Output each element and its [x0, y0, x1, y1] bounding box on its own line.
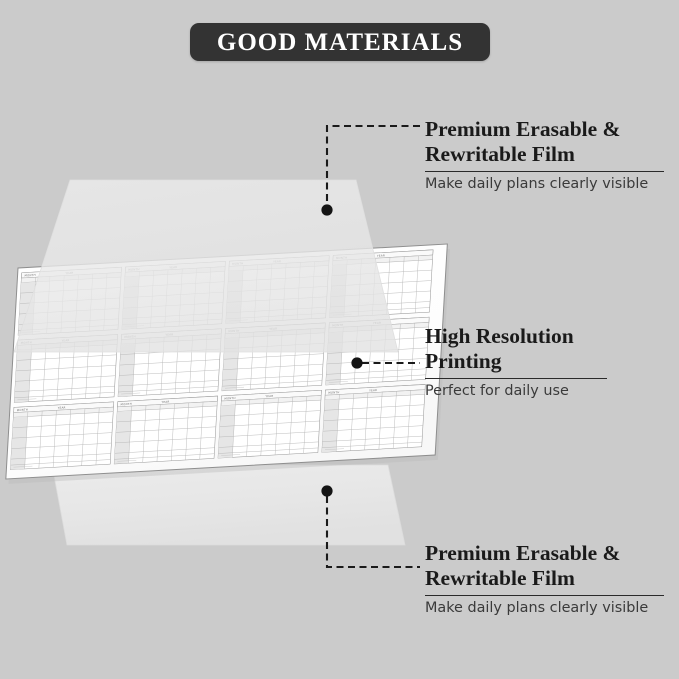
callout-top-divider	[425, 171, 664, 172]
infographic-stage: MONTH YEAR	[0, 0, 679, 679]
leader-dot-top	[321, 204, 332, 215]
top-film-sheet	[14, 180, 398, 352]
callout-bottom-headline: Premium Erasable & Rewritable Film	[425, 541, 671, 592]
page-title: GOOD MATERIALS	[217, 30, 463, 55]
callout-top-headline: Premium Erasable & Rewritable Film	[425, 117, 671, 168]
callout-middle-divider	[425, 378, 607, 379]
callout-middle-headline: High Resolution Printing	[425, 324, 671, 375]
title-banner: GOOD MATERIALS	[190, 23, 490, 61]
callout-bottom-divider	[425, 595, 664, 596]
callout-middle-subline: Perfect for daily use	[425, 382, 671, 400]
leader-dot-bottom	[321, 485, 332, 496]
callout-printing: High Resolution Printing Perfect for dai…	[425, 324, 671, 400]
callout-top-film: Premium Erasable & Rewritable Film Make …	[425, 117, 671, 193]
leader-dot-middle	[351, 357, 362, 368]
callout-bottom-film: Premium Erasable & Rewritable Film Make …	[425, 541, 671, 617]
callout-bottom-subline: Make daily plans clearly visible	[425, 599, 671, 617]
callout-top-subline: Make daily plans clearly visible	[425, 175, 671, 193]
